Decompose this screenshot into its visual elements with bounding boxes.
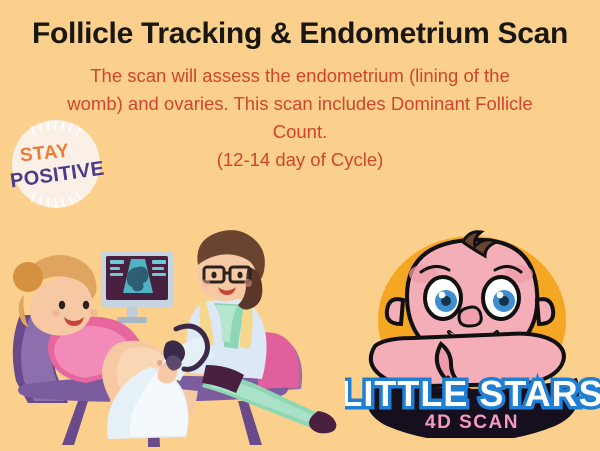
patient-eye-right [83, 301, 89, 309]
description-line-2: womb) and ovaries. This scan includes Do… [40, 90, 560, 118]
patient-hair-bun [13, 262, 43, 292]
screen-bar-1 [110, 260, 124, 264]
description-line-3: Count. [40, 118, 560, 146]
doctor-eye-right [237, 272, 242, 279]
doctor-eye-left [211, 272, 216, 279]
bed-leg-left [62, 401, 88, 445]
screen-bar-3 [110, 273, 123, 276]
logo-tagline-text: 4D SCAN [425, 412, 519, 433]
screen-bar-5 [152, 267, 164, 270]
baby-ear-left [387, 299, 403, 324]
baby-eye-glint-left [439, 292, 446, 299]
little-stars-logo[interactable]: LITTLE STARS 4D SCAN [345, 228, 600, 438]
description-line-1: The scan will assess the endometrium (li… [40, 62, 560, 90]
patient-blush-right [90, 309, 98, 317]
baby-eye-glint-right [497, 292, 504, 299]
bed-leg-right [238, 401, 262, 445]
page-title: Follicle Tracking & Endometrium Scan [0, 17, 600, 51]
ultrasound-scene-illustration [0, 205, 345, 451]
doctor-blush-right [244, 279, 252, 287]
description-text: The scan will assess the endometrium (li… [40, 62, 560, 174]
description-line-4: (12-14 day of Cycle) [40, 146, 560, 174]
monitor-stand-base [117, 317, 147, 323]
badge-text: STAY POSITIVE [4, 118, 108, 210]
doctor-blush-left [202, 279, 210, 287]
patient-blush-left [52, 309, 60, 317]
stay-positive-badge: STAY POSITIVE [4, 118, 108, 210]
screen-bar-6 [152, 273, 166, 276]
baby-nose [459, 307, 481, 326]
screen-bar-2 [110, 267, 120, 270]
patient-eye-left [59, 301, 65, 309]
screen-bar-4 [152, 260, 166, 264]
logo-brand-text: LITTLE STARS [345, 373, 600, 414]
poster-canvas: Follicle Tracking & Endometrium Scan The… [0, 0, 600, 451]
baby-ear-right [537, 299, 553, 324]
